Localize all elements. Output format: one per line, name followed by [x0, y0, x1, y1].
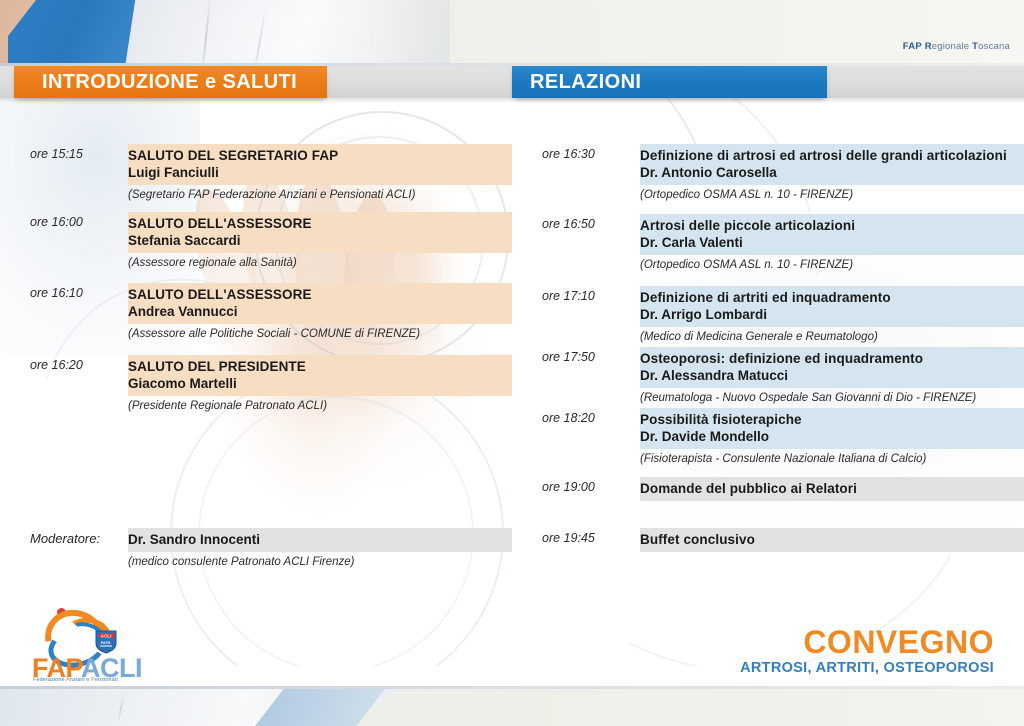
- fap-acli-logo: ACLI PATR. FAPACLI Federazione Anziani e…: [30, 605, 210, 677]
- logo-tagline-nziani: nziani e: [70, 677, 91, 683]
- entry-body: SALUTO DELL'ASSESSORE Stefania Saccardi …: [128, 212, 512, 271]
- brand-label: FAP Regionale Toscana: [903, 41, 1010, 52]
- entry-affiliation: (Reumatologa - Nuovo Ospedale San Giovan…: [640, 388, 1024, 406]
- entry-speaker-name: Dr. Antonio Carosella: [640, 164, 1024, 181]
- moderator-name: Dr. Sandro Innocenti: [128, 531, 512, 548]
- logo-tagline-ederazione: ederazione: [36, 677, 66, 683]
- entry-title: SALUTO DELL'ASSESSORE: [128, 215, 512, 232]
- entry-title: Domande del pubblico ai Relatori: [640, 480, 1024, 497]
- entry-speaker-name: Luigi Fanciulli: [128, 164, 512, 181]
- entry-speaker-name: Dr. Carla Valenti: [640, 234, 1024, 251]
- entry-highlight-band: Artrosi delle piccole articolazioni Dr. …: [640, 214, 1024, 255]
- entry-affiliation: (Fisioterapista - Consulente Nazionale I…: [640, 449, 1024, 467]
- entry-body: Artrosi delle piccole articolazioni Dr. …: [640, 214, 1024, 273]
- entry-highlight-band: Osteoporosi: definizione ed inquadrament…: [640, 347, 1024, 388]
- svg-text:ACLI: ACLI: [101, 634, 112, 639]
- right-program-column: ore 16:30 Definizione di artrosi ed artr…: [512, 66, 1024, 666]
- entry-time: ore 19:45: [542, 531, 634, 545]
- entry-affiliation: (Ortopedico OSMA ASL n. 10 - FIRENZE): [640, 255, 1024, 273]
- entry-title: Definizione di artrosi ed artrosi delle …: [640, 147, 1024, 164]
- entry-title: Possibilità fisioterapiche: [640, 411, 1024, 428]
- entry-highlight-band: Possibilità fisioterapiche Dr. Davide Mo…: [640, 408, 1024, 449]
- acli-shield-icon: ACLI PATR.: [94, 629, 118, 654]
- entry-title: Definizione di artriti ed inquadramento: [640, 289, 1024, 306]
- entry-time: ore 16:00: [30, 215, 122, 229]
- entry-body: SALUTO DEL SEGRETARIO FAP Luigi Fanciull…: [128, 144, 512, 203]
- entry-speaker-name: Dr. Davide Mondello: [640, 428, 1024, 445]
- brand-fap: FAP: [903, 41, 922, 52]
- entry-time: ore 17:10: [542, 289, 634, 303]
- left-program-column: ore 15:15 SALUTO DEL SEGRETARIO FAP Luig…: [0, 66, 512, 666]
- logo-tagline-ensionati: ensionati: [95, 677, 118, 683]
- entry-title: Osteoporosi: definizione ed inquadrament…: [640, 350, 1024, 367]
- entry-affiliation: (Presidente Regionale Patronato ACLI): [128, 396, 512, 414]
- convegno-block: CONVEGNO ARTROSI, ARTRITI, OSTEOPOROSI: [740, 625, 994, 677]
- brand-regionale: egionale: [932, 41, 970, 52]
- entry-time: ore 16:20: [30, 358, 122, 372]
- entry-speaker-name: Stefania Saccardi: [128, 232, 512, 249]
- entry-speaker-name: Dr. Alessandra Matucci: [640, 367, 1024, 384]
- entry-speaker-name: Andrea Vannucci: [128, 303, 512, 320]
- svg-text:PATR.: PATR.: [101, 641, 111, 645]
- entry-highlight-band: SALUTO DELL'ASSESSORE Andrea Vannucci: [128, 283, 512, 324]
- entry-affiliation: (Medico di Medicina Generale e Reumatolo…: [640, 327, 1024, 345]
- moderator-affiliation: (medico consulente Patronato ACLI Firenz…: [128, 552, 512, 570]
- entry-body: SALUTO DELL'ASSESSORE Andrea Vannucci (A…: [128, 283, 512, 342]
- entry-time: ore 15:15: [30, 147, 122, 161]
- top-photo-banner: FAP Regionale Toscana: [0, 0, 1024, 66]
- entry-body: Definizione di artrosi ed artrosi delle …: [640, 144, 1024, 203]
- entry-body: Definizione di artriti ed inquadramento …: [640, 286, 1024, 345]
- entry-affiliation: (Segretario FAP Federazione Anziani e Pe…: [128, 185, 512, 203]
- moderator-highlight-band: Dr. Sandro Innocenti: [128, 528, 512, 552]
- entry-time: ore 19:00: [542, 480, 634, 494]
- entry-title: SALUTO DEL PRESIDENTE: [128, 358, 512, 375]
- entry-highlight-band: SALUTO DELL'ASSESSORE Stefania Saccardi: [128, 212, 512, 253]
- entry-highlight-band: Buffet conclusivo: [640, 528, 1024, 552]
- entry-speaker-name: Dr. Arrigo Lombardi: [640, 306, 1024, 323]
- entry-highlight-band: Definizione di artrosi ed artrosi delle …: [640, 144, 1024, 185]
- entry-highlight-band: SALUTO DEL PRESIDENTE Giacomo Martelli: [128, 355, 512, 396]
- moderator-label: Moderatore:: [30, 531, 122, 546]
- convegno-subtitle: ARTROSI, ARTRITI, OSTEOPOROSI: [740, 659, 994, 677]
- entry-affiliation: (Ortopedico OSMA ASL n. 10 - FIRENZE): [640, 185, 1024, 203]
- entry-body: Osteoporosi: definizione ed inquadrament…: [640, 347, 1024, 406]
- moderator-body: Dr. Sandro Innocenti (medico consulente …: [128, 528, 512, 570]
- bottom-banner-fade-overlay: [380, 689, 1024, 726]
- poster-page: FAP Regionale Toscana INTRODUZIONE e SAL…: [0, 0, 1024, 726]
- entry-time: ore 17:50: [542, 350, 634, 364]
- entry-speaker-name: Giacomo Martelli: [128, 375, 512, 392]
- brand-r: R: [925, 41, 932, 52]
- entry-title: SALUTO DEL SEGRETARIO FAP: [128, 147, 512, 164]
- brand-toscana: oscana: [978, 41, 1010, 52]
- entry-body: Possibilità fisioterapiche Dr. Davide Mo…: [640, 408, 1024, 467]
- entry-highlight-band: Definizione di artriti ed inquadramento …: [640, 286, 1024, 327]
- entry-title: SALUTO DELL'ASSESSORE: [128, 286, 512, 303]
- entry-time: ore 18:20: [542, 411, 634, 425]
- entry-highlight-band: Domande del pubblico ai Relatori: [640, 477, 1024, 501]
- entry-body: Buffet conclusivo: [640, 528, 1024, 552]
- entry-title: Buffet conclusivo: [640, 531, 1024, 548]
- entry-affiliation: (Assessore regionale alla Sanità): [128, 253, 512, 271]
- entry-highlight-band: SALUTO DEL SEGRETARIO FAP Luigi Fanciull…: [128, 144, 512, 185]
- convegno-title: CONVEGNO: [740, 625, 994, 659]
- entry-time: ore 16:10: [30, 286, 122, 300]
- banner-fade-overlay: [330, 0, 1024, 66]
- entry-title: Artrosi delle piccole articolazioni: [640, 217, 1024, 234]
- entry-time: ore 16:30: [542, 147, 634, 161]
- entry-body: SALUTO DEL PRESIDENTE Giacomo Martelli (…: [128, 355, 512, 414]
- entry-affiliation: (Assessore alle Politiche Sociali - COMU…: [128, 324, 512, 342]
- entry-time: ore 16:50: [542, 217, 634, 231]
- entry-body: Domande del pubblico ai Relatori: [640, 477, 1024, 501]
- logo-tagline: Federazione Anziani e Pensionati: [33, 677, 118, 683]
- bottom-photo-banner: [0, 686, 1024, 726]
